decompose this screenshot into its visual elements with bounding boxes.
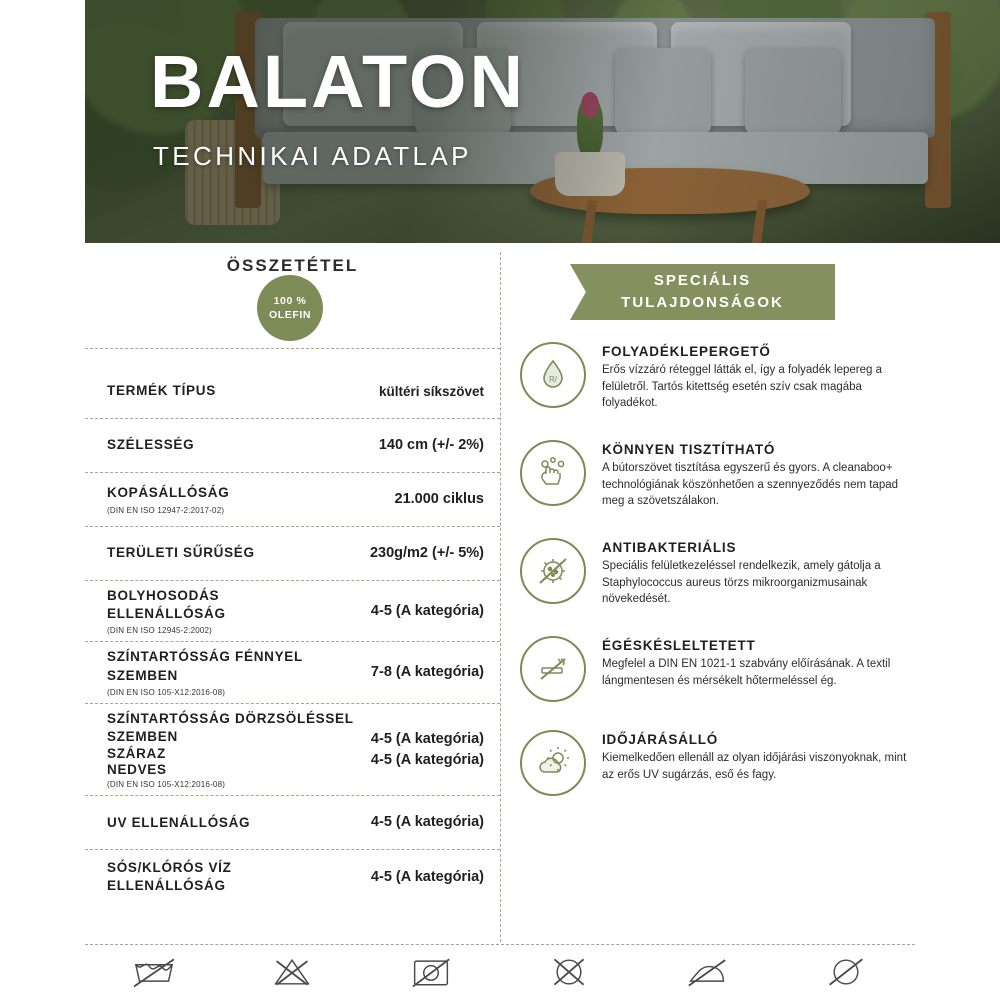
no-bleach-icon <box>264 952 320 992</box>
composition-divider <box>85 348 500 349</box>
feature-title: KÖNNYEN TISZTÍTHATÓ <box>602 442 920 457</box>
feature-title: FOLYADÉKLEPERGETŐ <box>602 344 920 359</box>
spec-standard: (DIN EN ISO 12947-2:2017-02) <box>107 506 387 515</box>
easy-clean-hand-icon <box>520 440 586 506</box>
spec-standard: (DIN EN ISO 105-X12:2016-08) <box>107 780 363 789</box>
spec-label-cell: UV ELLENÁLLÓSÁG <box>107 814 371 832</box>
feature-description: Erős vízzáró réteggel látták el, így a f… <box>602 362 920 412</box>
table-row: KOPÁSÁLLÓSÁG(DIN EN ISO 12947-2:2017-02)… <box>85 473 500 527</box>
feature-item: ÉGÉSKÉSLELTETETTMegfelel a DIN EN 1021-1… <box>520 636 920 702</box>
spec-value: 7-8 (A kategória) <box>371 662 484 683</box>
feature-title: IDŐJÁRÁSÁLLÓ <box>602 732 920 747</box>
table-row: SZÍNTARTÓSSÁG FÉNNYELSZEMBEN(DIN EN ISO … <box>85 642 500 703</box>
table-row: TERMÉK TÍPUSkültéri síkszövet <box>85 365 500 419</box>
table-row: BOLYHOSODÁSELLENÁLLÓSÁG(DIN EN ISO 12945… <box>85 581 500 642</box>
feature-item: KÖNNYEN TISZTÍTHATÓA bútorszövet tisztít… <box>520 440 920 510</box>
spec-name: TERMÉK TÍPUS <box>107 382 371 400</box>
spec-label-cell: BOLYHOSODÁSELLENÁLLÓSÁG(DIN EN ISO 12945… <box>107 587 371 635</box>
feature-text: FOLYADÉKLEPERGETŐErős vízzáró réteggel l… <box>602 342 920 412</box>
feature-item: R/ FOLYADÉKLEPERGETŐErős vízzáró rétegge… <box>520 342 920 412</box>
feature-text: KÖNNYEN TISZTÍTHATÓA bútorszövet tisztít… <box>602 440 920 510</box>
spec-value: 4-5 (A kategória) <box>371 867 484 888</box>
spec-label-cell: SZÍNTARTÓSSÁG FÉNNYELSZEMBEN(DIN EN ISO … <box>107 648 371 696</box>
no-dry-clean-icon <box>541 952 597 992</box>
spec-label-cell: TERMÉK TÍPUS <box>107 382 379 400</box>
ribbon-line-2: TULAJDONSÁGOK <box>621 292 784 314</box>
product-title: BALATON <box>150 45 526 119</box>
feature-description: Kiemelkedően ellenáll az olyan időjárási… <box>602 750 920 783</box>
spec-name: SZÍNTARTÓSSÁG DÖRZSÖLÉSSEL SZEMBEN <box>107 710 363 746</box>
table-row: UV ELLENÁLLÓSÁG4-5 (A kategória) <box>85 796 500 850</box>
spec-subname: NEDVES <box>107 762 363 777</box>
feature-title: ÉGÉSKÉSLELTETETT <box>602 638 920 653</box>
spec-value: 4-5 (A kategória) 4-5 (A kategória) <box>371 729 484 771</box>
feature-text: ÉGÉSKÉSLELTETETTMegfelel a DIN EN 1021-1… <box>602 636 920 702</box>
special-properties-ribbon: SPECIÁLIS TULAJDONSÁGOK <box>570 264 835 320</box>
spec-value: 21.000 ciklus <box>395 489 485 510</box>
svg-text:R/: R/ <box>549 375 558 384</box>
spec-label-cell: TERÜLETI SŰRŰSÉG <box>107 544 370 562</box>
water-drop-icon: R/ <box>520 342 586 408</box>
specification-table: TERMÉK TÍPUSkültéri síkszövetSZÉLESSÉG14… <box>85 365 500 904</box>
spec-name: SZÉLESSÉG <box>107 436 371 454</box>
spec-name: SÓS/KLÓRÓS VÍZELLENÁLLÓSÁG <box>107 859 363 895</box>
spec-name: UV ELLENÁLLÓSÁG <box>107 814 363 832</box>
no-iron-icon <box>679 952 735 992</box>
antibacterial-icon <box>520 538 586 604</box>
feature-description: Speciális felületkezeléssel rendelkezik,… <box>602 558 920 608</box>
spec-subnames: SZÁRAZNEDVES <box>107 746 363 777</box>
column-divider <box>500 252 501 942</box>
spec-value: 140 cm (+/- 2%) <box>379 435 484 456</box>
spec-value: 4-5 (A kategória) <box>371 812 484 833</box>
composition-heading: ÖSSZETÉTEL <box>85 256 500 276</box>
spec-name: KOPÁSÁLLÓSÁG <box>107 484 387 502</box>
spec-label-cell: KOPÁSÁLLÓSÁG(DIN EN ISO 12947-2:2017-02) <box>107 484 395 514</box>
feature-text: IDŐJÁRÁSÁLLÓKiemelkedően ellenáll az oly… <box>602 730 920 796</box>
spec-value: 230g/m2 (+/- 5%) <box>370 543 484 564</box>
spec-name: BOLYHOSODÁSELLENÁLLÓSÁG <box>107 587 363 623</box>
spec-value: 4-5 (A kategória) <box>371 601 484 622</box>
badge-percent: 100 % <box>274 294 307 308</box>
no-tumble-dry-icon <box>403 952 459 992</box>
spec-value: kültéri síkszövet <box>379 382 484 402</box>
no-wash-icon <box>126 952 182 992</box>
spec-subname: SZÁRAZ <box>107 746 363 761</box>
care-divider <box>85 944 915 945</box>
hero-banner: BALATON TECHNIKAI ADATLAP <box>85 0 1000 243</box>
table-row: SZÍNTARTÓSSÁG DÖRZSÖLÉSSEL SZEMBENSZÁRAZ… <box>85 704 500 796</box>
table-row: SZÉLESSÉG140 cm (+/- 2%) <box>85 419 500 473</box>
weather-sun-cloud-icon <box>520 730 586 796</box>
feature-item: ANTIBAKTERIÁLISSpeciális felületkezeléss… <box>520 538 920 608</box>
badge-material: OLEFIN <box>269 308 311 322</box>
feature-list: R/ FOLYADÉKLEPERGETŐErős vízzáró rétegge… <box>520 342 920 824</box>
spec-label-cell: SZÍNTARTÓSSÁG DÖRZSÖLÉSSEL SZEMBENSZÁRAZ… <box>107 710 371 789</box>
care-symbols <box>85 952 915 992</box>
table-row: TERÜLETI SŰRŰSÉG230g/m2 (+/- 5%) <box>85 527 500 581</box>
no-smoking-flame-retardant-icon <box>520 636 586 702</box>
feature-item: IDŐJÁRÁSÁLLÓKiemelkedően ellenáll az oly… <box>520 730 920 796</box>
feature-title: ANTIBAKTERIÁLIS <box>602 540 920 555</box>
spec-name: SZÍNTARTÓSSÁG FÉNNYELSZEMBEN <box>107 648 363 684</box>
datasheet-page: BALATON TECHNIKAI ADATLAP ÖSSZETÉTEL 100… <box>0 0 1000 1000</box>
spec-standard: (DIN EN ISO 105-X12:2016-08) <box>107 688 363 697</box>
spec-standard: (DIN EN ISO 12945-2:2002) <box>107 626 363 635</box>
feature-description: Megfelel a DIN EN 1021-1 szabvány előírá… <box>602 656 920 689</box>
ribbon-line-1: SPECIÁLIS <box>654 270 751 292</box>
spec-label-cell: SZÉLESSÉG <box>107 436 379 454</box>
table-row: SÓS/KLÓRÓS VÍZELLENÁLLÓSÁG4-5 (A kategór… <box>85 850 500 904</box>
spec-name: TERÜLETI SŰRŰSÉG <box>107 544 362 562</box>
no-professional-clean-icon <box>818 952 874 992</box>
feature-description: A bútorszövet tisztítása egyszerű és gyo… <box>602 460 920 510</box>
spec-label-cell: SÓS/KLÓRÓS VÍZELLENÁLLÓSÁG <box>107 859 371 895</box>
document-subtitle: TECHNIKAI ADATLAP <box>153 141 472 172</box>
feature-text: ANTIBAKTERIÁLISSpeciális felületkezeléss… <box>602 538 920 608</box>
composition-badge: 100 % OLEFIN <box>257 275 323 341</box>
